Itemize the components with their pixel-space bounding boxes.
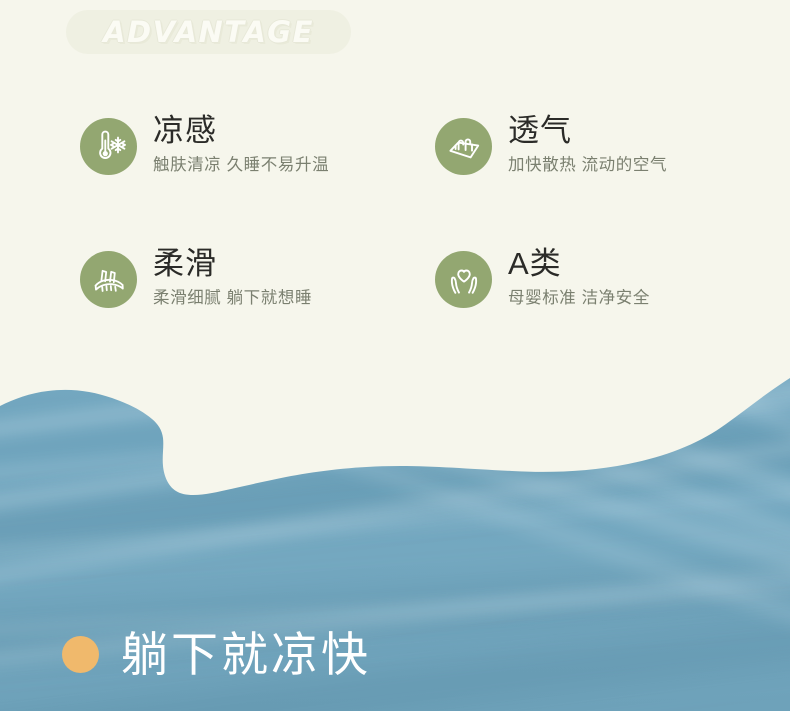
hands-holding-heart-icon	[435, 251, 492, 308]
feature-title: 柔滑	[153, 247, 312, 282]
feature-text: 凉感 触肤清凉 久睡不易升温	[153, 112, 329, 176]
feature-subtitle: 加快散热 流动的空气	[508, 155, 667, 176]
thermometer-snowflake-icon	[80, 118, 137, 175]
feature-item-smooth: 柔滑 柔滑细腻 躺下就想睡	[80, 245, 425, 378]
feature-title: A类	[508, 247, 650, 282]
feature-subtitle: 母婴标准 洁净安全	[508, 288, 650, 309]
feature-subtitle: 柔滑细腻 躺下就想睡	[153, 288, 312, 309]
feature-subtitle: 触肤清凉 久睡不易升温	[153, 155, 329, 176]
advantage-badge-label: ADVANTAGE	[103, 15, 314, 49]
feature-item-class-a: A类 母婴标准 洁净安全	[435, 245, 780, 378]
feature-grid: 凉感 触肤清凉 久睡不易升温	[0, 112, 790, 378]
advantage-section: ADVANTAGE	[0, 0, 790, 400]
feature-text: 柔滑 柔滑细腻 躺下就想睡	[153, 245, 312, 309]
folded-blanket-icon	[80, 251, 137, 308]
feature-item-cooling: 凉感 触肤清凉 久睡不易升温	[80, 112, 425, 245]
bullet-dot-icon	[62, 636, 99, 673]
feature-text: 透气 加快散热 流动的空气	[508, 112, 667, 176]
breathable-fabric-airflow-icon	[435, 118, 492, 175]
feature-item-breathable: 透气 加快散热 流动的空气	[435, 112, 780, 245]
feature-text: A类 母婴标准 洁净安全	[508, 245, 650, 309]
feature-title: 凉感	[153, 114, 329, 149]
bottom-headline: 躺下就凉快	[121, 630, 371, 679]
advantage-promo-page: ADVANTAGE	[0, 0, 790, 711]
feature-title: 透气	[508, 114, 667, 149]
bottom-headline-row: 躺下就凉快	[62, 630, 371, 679]
advantage-badge: ADVANTAGE	[66, 10, 351, 54]
